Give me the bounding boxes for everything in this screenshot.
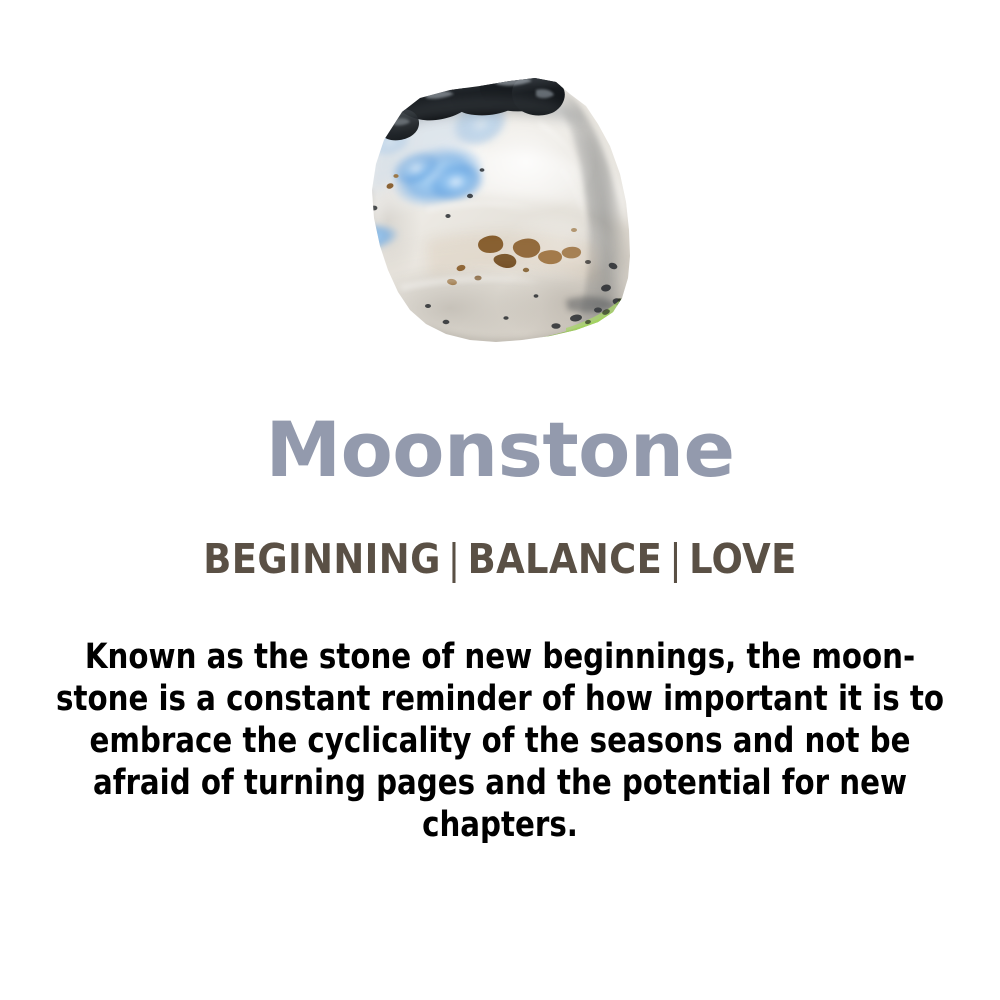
- moonstone-specimen-image: [330, 50, 660, 360]
- keyword-balance: BALANCE: [468, 535, 663, 583]
- description-line: stone is a constant reminder of how impo…: [55, 678, 944, 720]
- description-line: chapters.: [55, 804, 944, 846]
- description-text: Known as the stone of new beginnings, th…: [55, 636, 944, 846]
- description-line: embrace the cyclicality of the seasons a…: [55, 720, 944, 762]
- stone-figure: [0, 0, 1000, 400]
- keyword-separator: |: [662, 535, 689, 583]
- keyword-list: BEGINNING|BALANCE|LOVE: [0, 533, 1000, 585]
- page-title: Moonstone: [0, 404, 1000, 496]
- description-line: afraid of turning pages and the potentia…: [55, 762, 944, 804]
- keyword-beginning: BEGINNING: [203, 535, 441, 583]
- description-line: Known as the stone of new beginnings, th…: [55, 636, 944, 678]
- keyword-separator: |: [441, 535, 468, 583]
- moonstone-info-card: Moonstone BEGINNING|BALANCE|LOVE Known a…: [0, 0, 1000, 1000]
- keyword-love: LOVE: [689, 535, 797, 583]
